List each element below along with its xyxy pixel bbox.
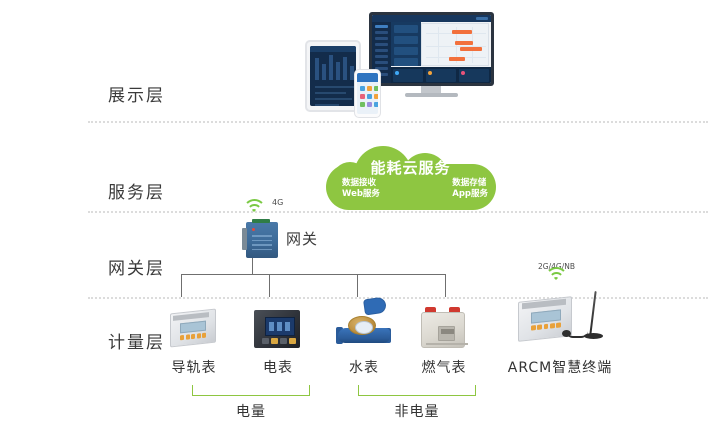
architecture-diagram: 展示层 服务层 网关层 计量层 bbox=[0, 0, 715, 443]
desktop-monitor-icon bbox=[369, 12, 494, 92]
meter-label-gas: 燃气表 bbox=[402, 357, 486, 377]
connector-drop-water bbox=[357, 275, 358, 297]
layer-label-display: 展示层 bbox=[108, 81, 198, 106]
cloud-service-data-receive: 数据接收 bbox=[342, 178, 380, 189]
smartphone-icon bbox=[354, 69, 381, 118]
connector-bar bbox=[181, 274, 446, 275]
cloud-service-web: Web服务 bbox=[342, 189, 380, 200]
cloud-service-app: App服务 bbox=[452, 189, 488, 200]
gateway-label: 网关 bbox=[286, 228, 318, 249]
grouping-label-non-electric: 非电量 bbox=[358, 401, 476, 421]
gateway-signal-label: 4G bbox=[272, 198, 283, 207]
meter-label-electric: 电表 bbox=[236, 357, 320, 377]
layer-divider-service-gateway bbox=[88, 211, 708, 213]
connector-drop-elec bbox=[269, 275, 270, 297]
connector-drop-din bbox=[181, 275, 182, 297]
layer-divider-display-service bbox=[88, 121, 708, 123]
meter-label-arcm-terminal: ARCM智慧终端 bbox=[500, 357, 620, 377]
wifi-signal-icon bbox=[544, 263, 570, 283]
gas-meter-icon bbox=[418, 305, 470, 351]
meter-label-din-rail: 导轨表 bbox=[152, 357, 236, 377]
cloud-service-column-right: 数据存储 App服务 bbox=[452, 178, 488, 200]
connector-drop-gas bbox=[445, 275, 446, 297]
cloud-title: 能耗云服务 bbox=[318, 157, 503, 178]
tablet-icon bbox=[305, 40, 361, 112]
connector-stem bbox=[252, 258, 253, 275]
meter-label-water: 水表 bbox=[322, 357, 406, 377]
electric-meter-icon bbox=[252, 308, 304, 350]
water-meter-icon bbox=[336, 298, 392, 350]
bracket-non-electric bbox=[358, 385, 476, 396]
antenna-icon bbox=[589, 291, 596, 335]
cloud-service-data-storage: 数据存储 bbox=[452, 178, 488, 189]
bracket-electric bbox=[192, 385, 310, 396]
arcm-terminal-group: 2G/4G/NB bbox=[500, 263, 620, 351]
cloud-icon: 能耗云服务 数据接收 Web服务 数据存储 App服务 bbox=[318, 144, 503, 210]
wifi-signal-icon bbox=[242, 196, 268, 216]
din-rail-meter-icon bbox=[166, 307, 222, 349]
grouping-label-electric: 电量 bbox=[192, 401, 310, 421]
layer-label-service: 服务层 bbox=[108, 178, 198, 203]
display-layer-devices bbox=[305, 12, 535, 117]
gateway-device-icon bbox=[246, 222, 278, 258]
cloud-service-column-left: 数据接收 Web服务 bbox=[342, 178, 380, 200]
